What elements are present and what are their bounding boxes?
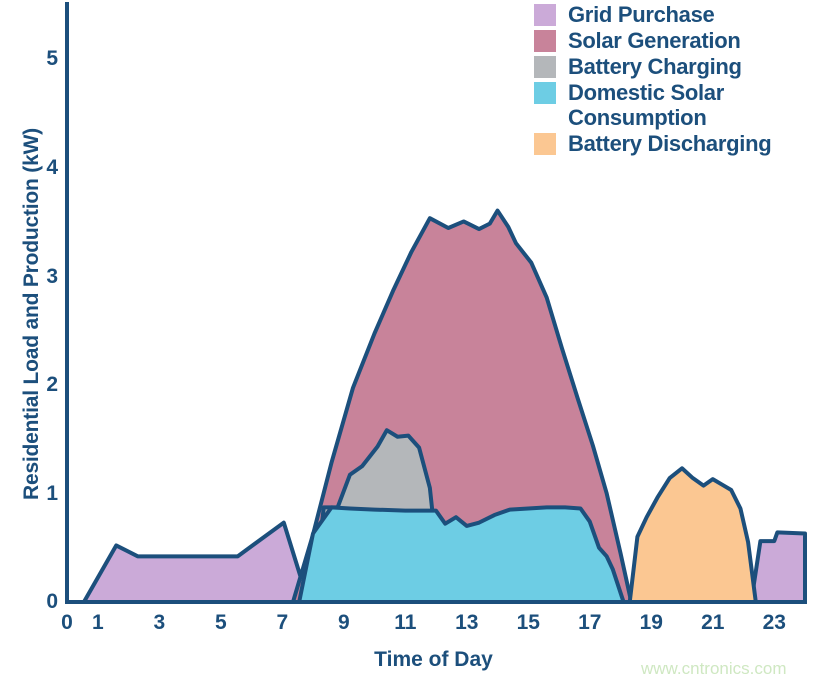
legend-color-swatch	[534, 4, 556, 26]
legend-item-label: Solar Generation	[568, 28, 740, 53]
legend-item-label: Grid Purchase	[568, 2, 715, 27]
legend-item[interactable]: Battery Charging	[534, 54, 822, 79]
x-tick-label: 5	[201, 612, 241, 633]
legend-color-swatch	[534, 133, 556, 155]
legend-item[interactable]: Solar Generation	[534, 28, 822, 53]
x-tick-label: 3	[139, 612, 179, 633]
x-tick-label: 23	[754, 612, 794, 633]
legend-item[interactable]: Domestic Solar Consumption	[534, 80, 822, 130]
legend-item-label: Battery Charging	[568, 54, 742, 79]
legend-item[interactable]: Grid Purchase	[534, 2, 822, 27]
x-tick-label: 11	[385, 612, 425, 633]
legend-color-swatch	[534, 30, 556, 52]
x-tick-label: 13	[447, 612, 487, 633]
series-area	[630, 468, 756, 602]
watermark-text: www.cntronics.com	[641, 659, 786, 679]
x-tick-label: 19	[631, 612, 671, 633]
x-tick-label: 21	[693, 612, 733, 633]
x-tick-label: 7	[262, 612, 302, 633]
legend-item-label: Battery Discharging	[568, 131, 771, 156]
series-area	[299, 507, 623, 602]
legend-color-swatch	[534, 82, 556, 104]
legend-item[interactable]: Battery Discharging	[534, 131, 822, 156]
chart-legend: Grid PurchaseSolar GenerationBattery Cha…	[534, 2, 822, 157]
x-tick-label: 1	[78, 612, 118, 633]
legend-item-label: Domestic Solar Consumption	[568, 80, 822, 130]
x-tick-label: 17	[570, 612, 610, 633]
legend-color-swatch	[534, 56, 556, 78]
x-tick-label: 9	[324, 612, 364, 633]
x-tick-label: 15	[508, 612, 548, 633]
series-areas	[84, 211, 805, 602]
chart-figure: Residential Load and Production (kW) 5 4…	[0, 0, 823, 687]
